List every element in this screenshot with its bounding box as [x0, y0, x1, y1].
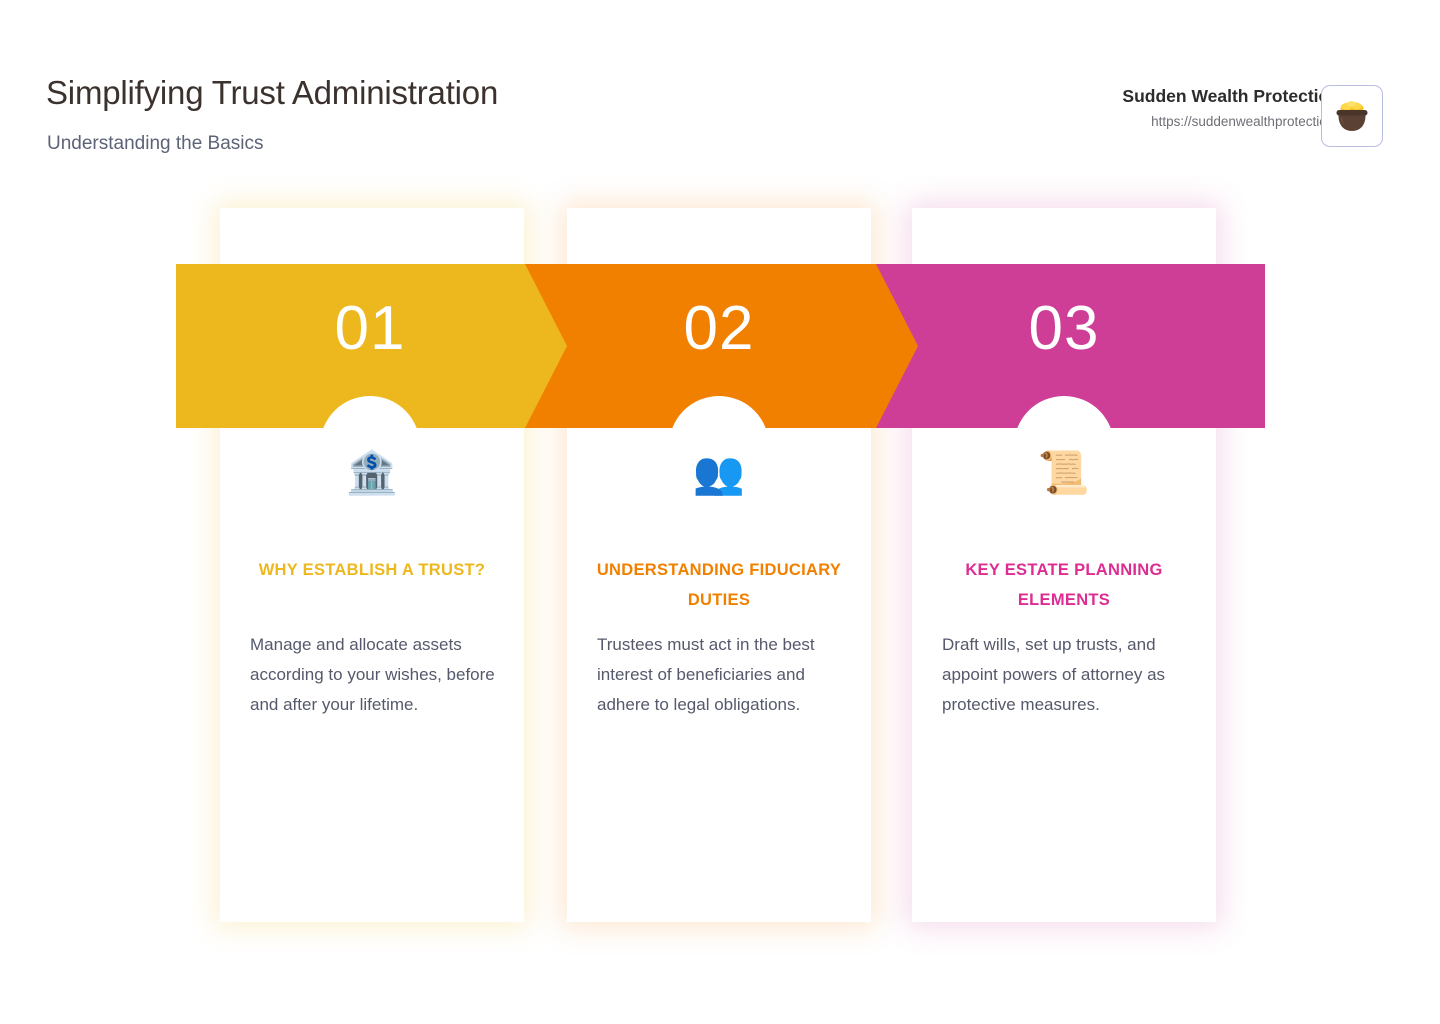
- step-body-3: Draft wills, set up trusts, and appoint …: [942, 630, 1188, 719]
- step-heading-1: WHY ESTABLISH A TRUST?: [244, 556, 500, 586]
- page-title: Simplifying Trust Administration: [46, 74, 498, 112]
- step-chevron-banner: 01 02 03: [176, 264, 1265, 428]
- page-header: Simplifying Trust Administration Underst…: [0, 0, 1440, 190]
- step-number-2: 02: [639, 298, 799, 360]
- step-body-2: Trustees must act in the best interest o…: [597, 630, 843, 719]
- step-heading-2: UNDERSTANDING FIDUCIARY DUTIES: [591, 556, 847, 615]
- bank-icon: 🏦: [220, 452, 524, 494]
- step-body-1: Manage and allocate assets according to …: [250, 630, 496, 719]
- step-number-1: 01: [290, 298, 450, 360]
- step-number-3: 03: [984, 298, 1144, 360]
- people-icon: 👥: [567, 452, 871, 494]
- pot-of-gold-icon: [1321, 85, 1383, 147]
- step-heading-3: KEY ESTATE PLANNING ELEMENTS: [936, 556, 1192, 615]
- scroll-icon: 📜: [912, 452, 1216, 494]
- page-subtitle: Understanding the Basics: [47, 133, 264, 155]
